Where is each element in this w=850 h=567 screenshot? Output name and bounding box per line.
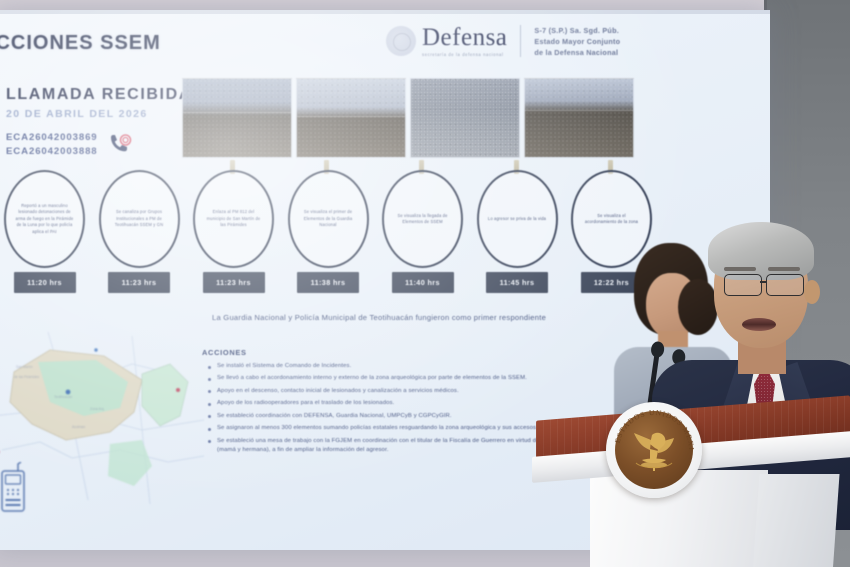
timeline-bubble: Reportó a un masculino lesionado detonac…	[4, 170, 85, 268]
timeline-bubble: Se visualiza el primer de Elementos de l…	[288, 170, 369, 268]
brand-name: Defensa	[422, 25, 507, 50]
timeline-text: Enlaza al PM 812 del municipio de San Ma…	[204, 209, 263, 228]
timeline-bubble: Se visualiza la llegada de Elementos de …	[382, 170, 463, 268]
list-item: Se llevó a cabo el acordonamiento intern…	[208, 374, 644, 383]
timeline-node-5: Se visualiza la llegada de Elementos de …	[382, 170, 463, 293]
timeline-time-badge: 11:40 hrs	[392, 272, 454, 293]
unit-line-2: Estado Mayor Conjunto	[534, 37, 620, 46]
unit-line-3: de la Defensa Nacional	[534, 48, 620, 57]
bullet-dot	[208, 378, 211, 381]
unit-lines: S-7 (S.P.) Sa. Sgd. Púb. Estado Mayor Co…	[534, 26, 620, 57]
svg-text:Acolman: Acolman	[72, 425, 85, 429]
eyeglasses-icon	[724, 274, 762, 296]
actions-heading: ACCIONES	[202, 348, 247, 357]
list-item: Apoyo en el descenso, contacto inicial d…	[208, 387, 644, 396]
timeline-time-badge: 11:23 hrs	[108, 272, 170, 293]
slide-photo-2	[296, 78, 406, 158]
timeline-text: Se visualiza la llegada de Elementos de …	[393, 213, 452, 226]
timeline-node-6: Lo agresor se priva de la vida 11:45 hrs	[477, 170, 558, 293]
timeline-row: Reportó a un masculino lesionado detonac…	[4, 170, 652, 293]
slide-photo-3	[410, 78, 520, 158]
timeline-time-badge: 11:20 hrs	[14, 272, 76, 293]
svg-text:San Martín: San Martín	[16, 365, 33, 369]
timeline-bubble: Se canaliza por Grupos Institucionales a…	[99, 170, 180, 268]
timeline-node-4: Se visualiza el primer de Elementos de l…	[288, 170, 369, 293]
bullet-dot	[208, 440, 211, 443]
svg-text:Teotihuacán: Teotihuacán	[54, 395, 72, 399]
phone-alert-icon	[108, 134, 132, 156]
slide-photo-4	[524, 78, 634, 158]
svg-text:ESTADOS UNIDOS MEXICANOS: ESTADOS UNIDOS MEXICANOS	[606, 402, 696, 451]
timeline-time-badge: 11:45 hrs	[486, 272, 548, 293]
responder-note: La Guardia Nacional y Policía Municipal …	[212, 313, 546, 322]
bullet-dot	[208, 366, 211, 369]
timeline-time-badge: 11:23 hrs	[203, 272, 265, 293]
timeline-time-badge: 11:38 hrs	[297, 272, 359, 293]
defensa-brand: Defensa secretaría de la defensa naciona…	[422, 25, 507, 57]
unit-line-1: S-7 (S.P.) Sa. Sgd. Púb.	[534, 26, 620, 35]
eyebrow-left	[724, 267, 756, 271]
brand-subtitle: secretaría de la defensa nacional	[422, 52, 507, 57]
timeline-bubble: Lo agresor se priva de la vida	[477, 170, 558, 268]
eyeglasses-icon	[766, 274, 804, 296]
glasses-bridge	[760, 281, 767, 283]
photo-strip	[182, 78, 634, 158]
call-received-block: LLAMADA RECIBIDA 20 DE ABRIL DEL 2026	[6, 86, 192, 120]
podium: ESTADOS UNIDOS MEXICANOS	[528, 408, 850, 567]
header-divider	[520, 25, 521, 57]
bullet-dot	[208, 415, 211, 418]
page-title: ACCIONES SSEM	[0, 32, 161, 55]
bullet-dot	[208, 390, 211, 393]
timeline-node-1: Reportó a un masculino lesionado detonac…	[4, 170, 85, 293]
list-item: Se instaló el Sistema de Comando de Inci…	[208, 362, 644, 371]
screenshot-stage: ACCIONES SSEM Defensa secretaría de la d…	[0, 0, 850, 567]
timeline-text: Lo agresor se priva de la vida	[488, 216, 546, 222]
slide-header: Defensa secretaría de la defensa naciona…	[386, 18, 716, 64]
timeline-text: Se visualiza el acordonamiento de la zon…	[582, 213, 641, 226]
slide-photo-1	[182, 78, 292, 158]
call-date: 20 DE ABRIL DEL 2026	[6, 108, 192, 120]
timeline-text: Reportó a un masculino lesionado detonac…	[15, 203, 74, 235]
podium-body-side	[752, 474, 839, 567]
hair	[708, 222, 814, 280]
timeline-text: Se canaliza por Grupos Institucionales a…	[110, 209, 169, 228]
svg-text:de las Pirámides: de las Pirámides	[14, 375, 39, 379]
region-map: San Martín de las Pirámides Teotihuacán …	[0, 320, 204, 510]
call-codes-row: ECA26042003869 ECA26042003888	[6, 132, 132, 157]
eca-code-2: ECA26042003888	[6, 146, 98, 157]
timeline-text: Se visualiza el primer de Elementos de l…	[299, 209, 358, 228]
mexican-coat-of-arms-icon: ESTADOS UNIDOS MEXICANOS	[606, 402, 702, 498]
timeline-bubble: Enlaza al PM 812 del municipio de San Ma…	[193, 170, 274, 268]
radio-handheld-icon	[0, 462, 28, 514]
timeline-node-3: Enlaza al PM 812 del municipio de San Ma…	[193, 170, 274, 293]
bullet-dot	[208, 428, 211, 431]
mouth	[742, 318, 776, 331]
eca-code-1: ECA26042003869	[6, 132, 98, 143]
bullet-dot	[208, 403, 211, 406]
eyebrow-right	[768, 267, 800, 271]
sedena-seal-icon	[386, 26, 416, 56]
timeline-node-2: Se canaliza por Grupos Institucionales a…	[99, 170, 180, 293]
call-heading: LLAMADA RECIBIDA	[6, 86, 192, 104]
svg-text:Zona Arq.: Zona Arq.	[90, 407, 105, 411]
ear	[804, 280, 820, 304]
